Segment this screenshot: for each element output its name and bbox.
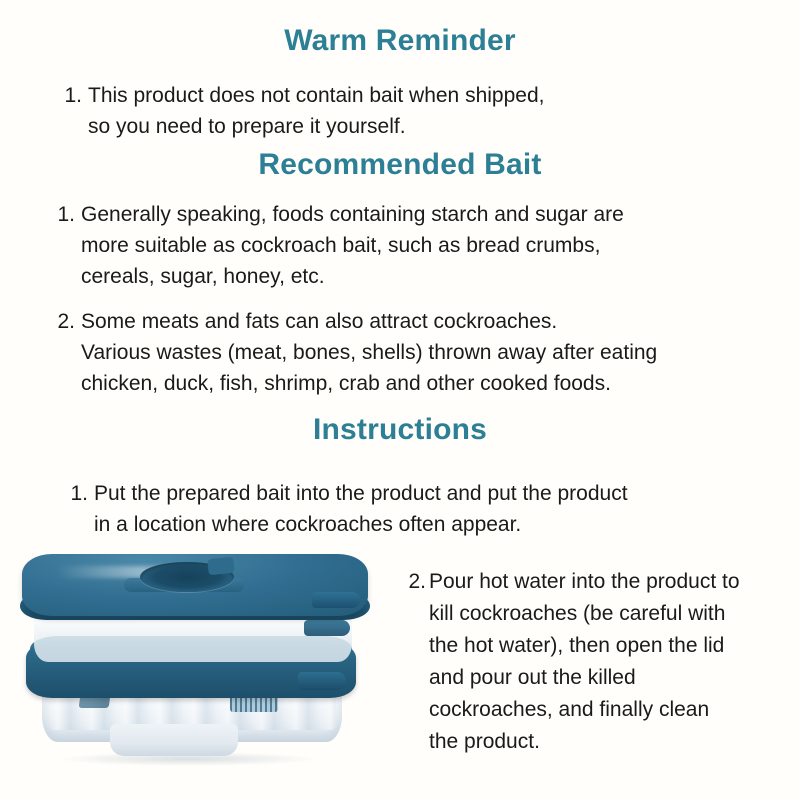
product-info-page: Warm Reminder 1. This product does not c… bbox=[0, 0, 800, 800]
text-line: Generally speaking, foods containing sta… bbox=[81, 199, 657, 230]
text-line: in a location where cockroaches often ap… bbox=[94, 509, 628, 540]
list-item: 2. Some meats and fats can also attract … bbox=[45, 306, 657, 399]
list-marker: 2. bbox=[396, 566, 426, 598]
recommended-bait-list: 1. Generally speaking, foods containing … bbox=[45, 199, 657, 399]
instructions-step-2: 2. Pour hot water into the product to ki… bbox=[396, 566, 740, 758]
upper-lid-notch bbox=[207, 557, 235, 576]
warm-reminder-list: 1. This product does not contain bait wh… bbox=[52, 80, 544, 142]
section-heading-recommended-bait: Recommended Bait bbox=[0, 150, 800, 180]
upper-container-clip-tab bbox=[304, 620, 350, 636]
text-line: so you need to prepare it yourself. bbox=[88, 111, 544, 142]
product-illustration bbox=[12, 548, 382, 780]
list-item: 1. Put the prepared bait into the produc… bbox=[58, 478, 628, 540]
list-item: 1. Generally speaking, foods containing … bbox=[45, 199, 657, 292]
text-line: the hot water), then open the lid bbox=[429, 630, 740, 662]
list-item-body: This product does not contain bait when … bbox=[52, 80, 544, 142]
text-line: chicken, duck, fish, shrimp, crab and ot… bbox=[81, 368, 657, 399]
list-item: 2. Pour hot water into the product to ki… bbox=[396, 566, 740, 758]
list-item: 1. This product does not contain bait wh… bbox=[52, 80, 544, 142]
section-heading-warm-reminder: Warm Reminder bbox=[0, 26, 800, 56]
list-item-body: Generally speaking, foods containing sta… bbox=[45, 199, 657, 292]
instructions-step-1: 1. Put the prepared bait into the produc… bbox=[58, 478, 628, 540]
upper-lid-clip-tab bbox=[312, 592, 360, 608]
lower-container-foot bbox=[110, 724, 238, 756]
list-item-body: Some meats and fats can also attract coc… bbox=[45, 306, 657, 399]
section-heading-instructions: Instructions bbox=[0, 415, 800, 445]
list-marker: 1. bbox=[52, 80, 82, 111]
text-line: Put the prepared bait into the product a… bbox=[94, 478, 628, 509]
list-item-body: Put the prepared bait into the product a… bbox=[58, 478, 628, 540]
list-item-body: Pour hot water into the product to kill … bbox=[396, 566, 740, 758]
text-line: and pour out the killed bbox=[429, 662, 740, 694]
list-marker: 1. bbox=[58, 478, 88, 509]
text-line: more suitable as cockroach bait, such as… bbox=[81, 230, 657, 261]
text-line: cockroaches, and finally clean bbox=[429, 694, 740, 726]
list-marker: 2. bbox=[45, 306, 75, 337]
text-line: Various wastes (meat, bones, shells) thr… bbox=[81, 337, 657, 368]
text-line: Pour hot water into the product to bbox=[429, 566, 740, 598]
text-line: This product does not contain bait when … bbox=[88, 80, 544, 111]
text-line: the product. bbox=[429, 726, 740, 758]
text-line: cereals, sugar, honey, etc. bbox=[81, 261, 657, 292]
list-marker: 1. bbox=[45, 199, 75, 230]
text-line: kill cockroaches (be careful with bbox=[429, 598, 740, 630]
text-line: Some meats and fats can also attract coc… bbox=[81, 306, 657, 337]
lower-lid-clip-tab bbox=[298, 672, 346, 690]
product-photo bbox=[12, 548, 382, 780]
